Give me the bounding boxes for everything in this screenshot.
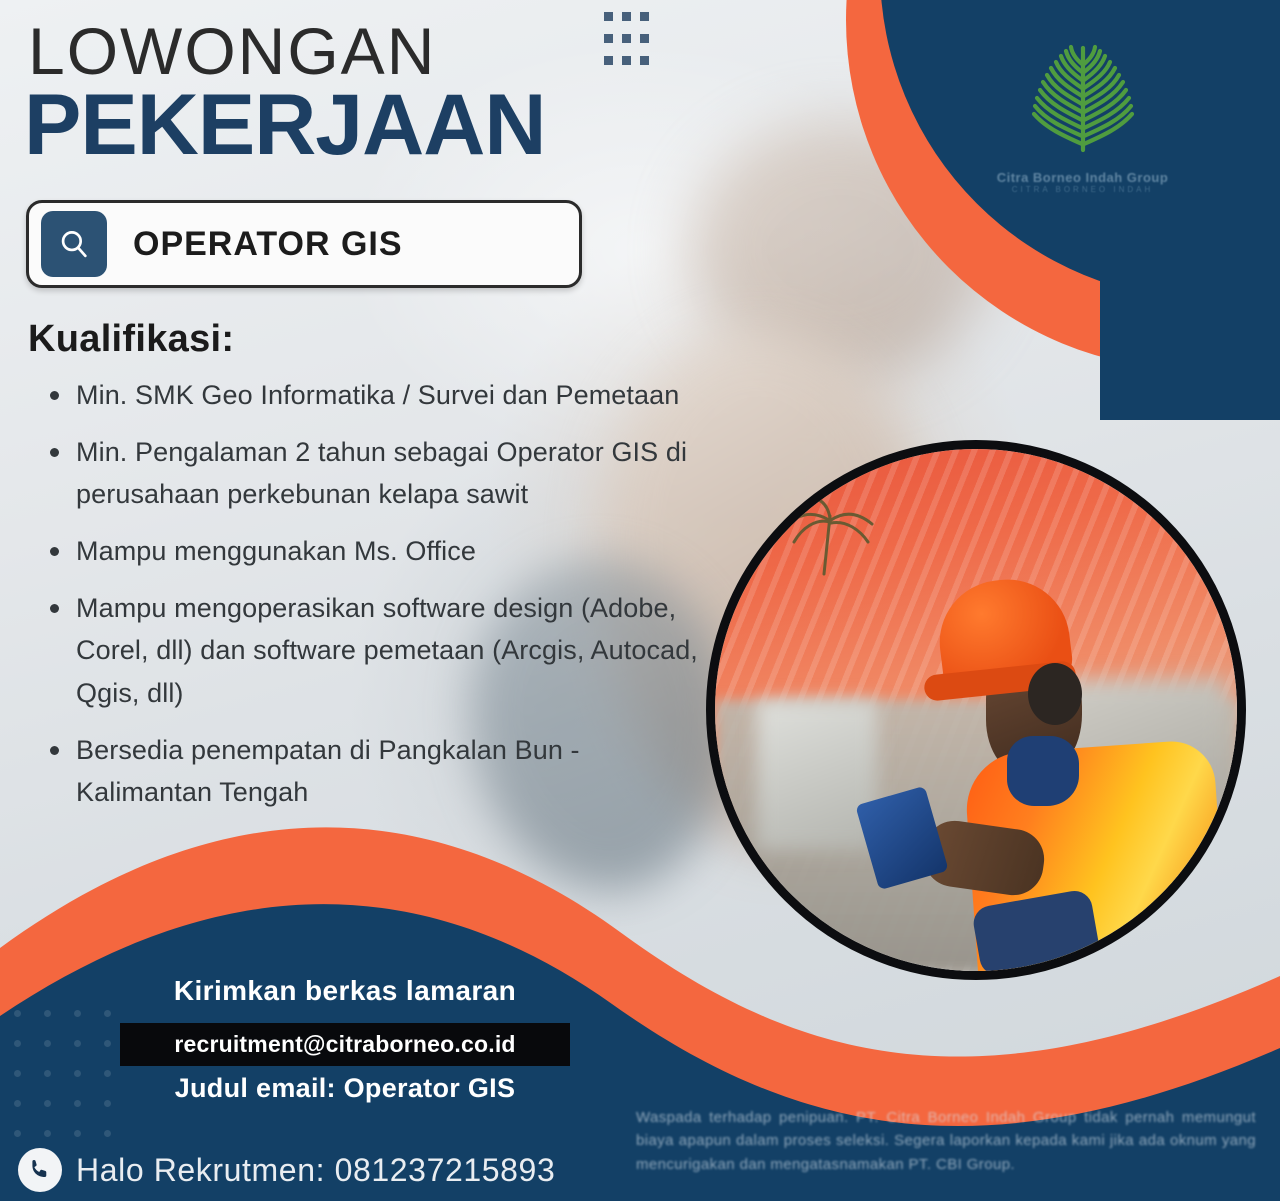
photo-blur-left (757, 700, 877, 850)
photo-collar (1007, 736, 1079, 806)
decorative-dot-grid-bottom (14, 1010, 134, 1160)
list-item: Min. Pengalaman 2 tahun sebagai Operator… (76, 431, 716, 516)
qualifications-list: Min. SMK Geo Informatika / Survei dan Pe… (40, 374, 716, 828)
search-icon[interactable] (41, 211, 107, 277)
recruitment-phone-row[interactable]: Halo Rekrutmen: 081237215893 (18, 1148, 555, 1192)
search-bar[interactable]: OPERATOR GIS (26, 200, 582, 288)
palm-frond-logo-icon (1008, 18, 1158, 168)
phone-icon[interactable] (18, 1148, 62, 1192)
list-item: Mampu menggunakan Ms. Office (76, 530, 716, 573)
logo-tagline: CITRA BORNEO INDAH (975, 185, 1190, 194)
logo-company-name: Citra Borneo Indah Group (975, 170, 1190, 185)
search-input[interactable]: OPERATOR GIS (133, 225, 403, 264)
list-item: Min. SMK Geo Informatika / Survei dan Pe… (76, 374, 716, 417)
company-logo: Citra Borneo Indah Group CITRA BORNEO IN… (975, 18, 1190, 194)
qualifications-heading: Kualifikasi: (28, 318, 234, 361)
photo-ear-protection (1028, 663, 1082, 725)
send-documents-label: Kirimkan berkas lamaran (120, 975, 570, 1007)
worker-photo (706, 440, 1246, 980)
list-item: Mampu mengoperasikan software design (Ad… (76, 587, 716, 715)
page-title: PEKERJAAN (24, 82, 545, 168)
fraud-disclaimer: Waspada terhadap penipuan. PT. Citra Bor… (636, 1106, 1256, 1176)
recruitment-email[interactable]: recruitment@citraborneo.co.id (120, 1023, 570, 1066)
job-vacancy-poster: Citra Borneo Indah Group CITRA BORNEO IN… (0, 0, 1280, 1201)
poster-kicker: LOWONGAN (28, 18, 436, 84)
recruitment-phone-label: Halo Rekrutmen: 081237215893 (76, 1152, 555, 1189)
decorative-dot-grid-top (604, 12, 658, 78)
photo-palm-tree (772, 496, 892, 586)
email-subject-label: Judul email: Operator GIS (120, 1073, 570, 1104)
